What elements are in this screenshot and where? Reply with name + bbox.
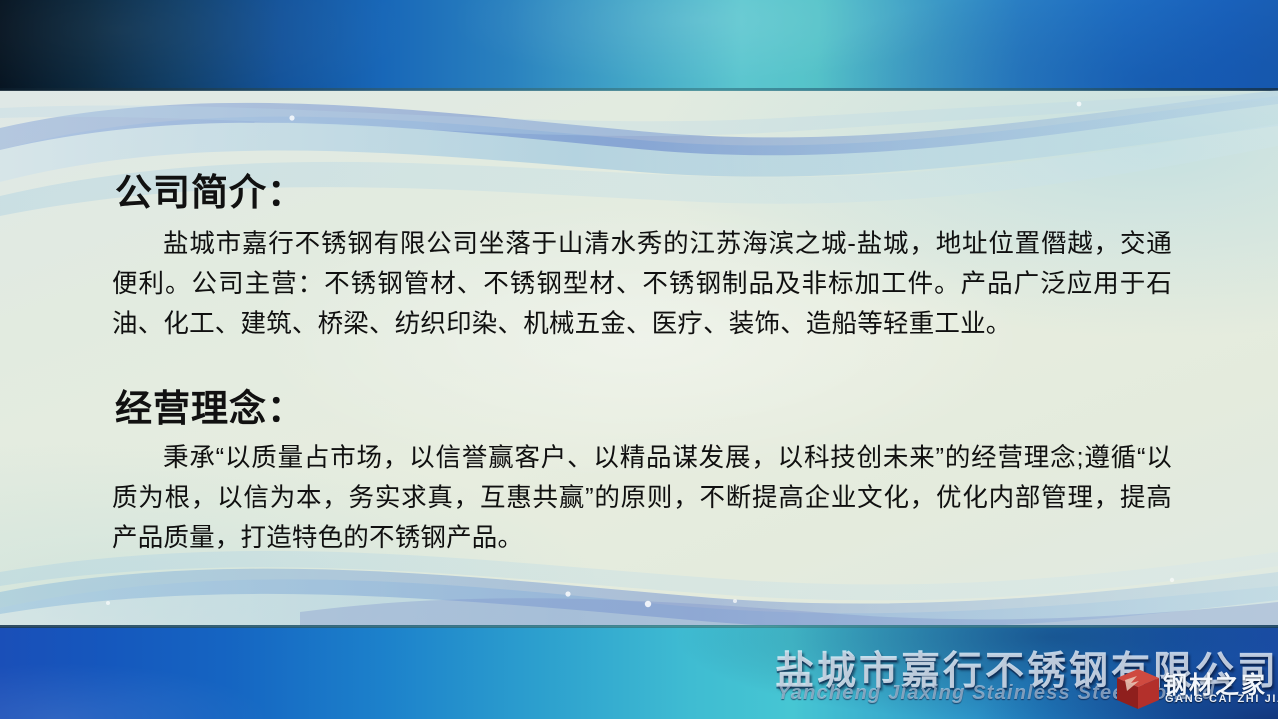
presentation-slide: 公司简介： 盐城市嘉行不锈钢有限公司坐落于山清水秀的江苏海滨之城-盐城，地址位置… <box>0 0 1278 719</box>
site-logo[interactable]: 钢材之家 GANG CAI ZHI JIA <box>1115 663 1278 715</box>
slide-content: 公司简介： 盐城市嘉行不锈钢有限公司坐落于山清水秀的江苏海滨之城-盐城，地址位置… <box>0 90 1278 627</box>
section-body-business-philosophy: 秉承“以质量占市场，以信誉赢客户、以精品谋发展，以科技创未来”的经营理念;遵循“… <box>112 438 1172 558</box>
section-heading-company-profile: 公司简介： <box>115 162 305 216</box>
section-body-company-profile: 盐城市嘉行不锈钢有限公司坐落于山清水秀的江苏海滨之城-盐城，地址位置僭越，交通便… <box>112 224 1172 344</box>
cube-icon <box>1115 667 1161 711</box>
section-heading-business-philosophy: 经营理念： <box>115 378 305 432</box>
top-band-sheen <box>0 0 1278 90</box>
logo-name-en: GANG CAI ZHI JIA <box>1165 693 1278 705</box>
